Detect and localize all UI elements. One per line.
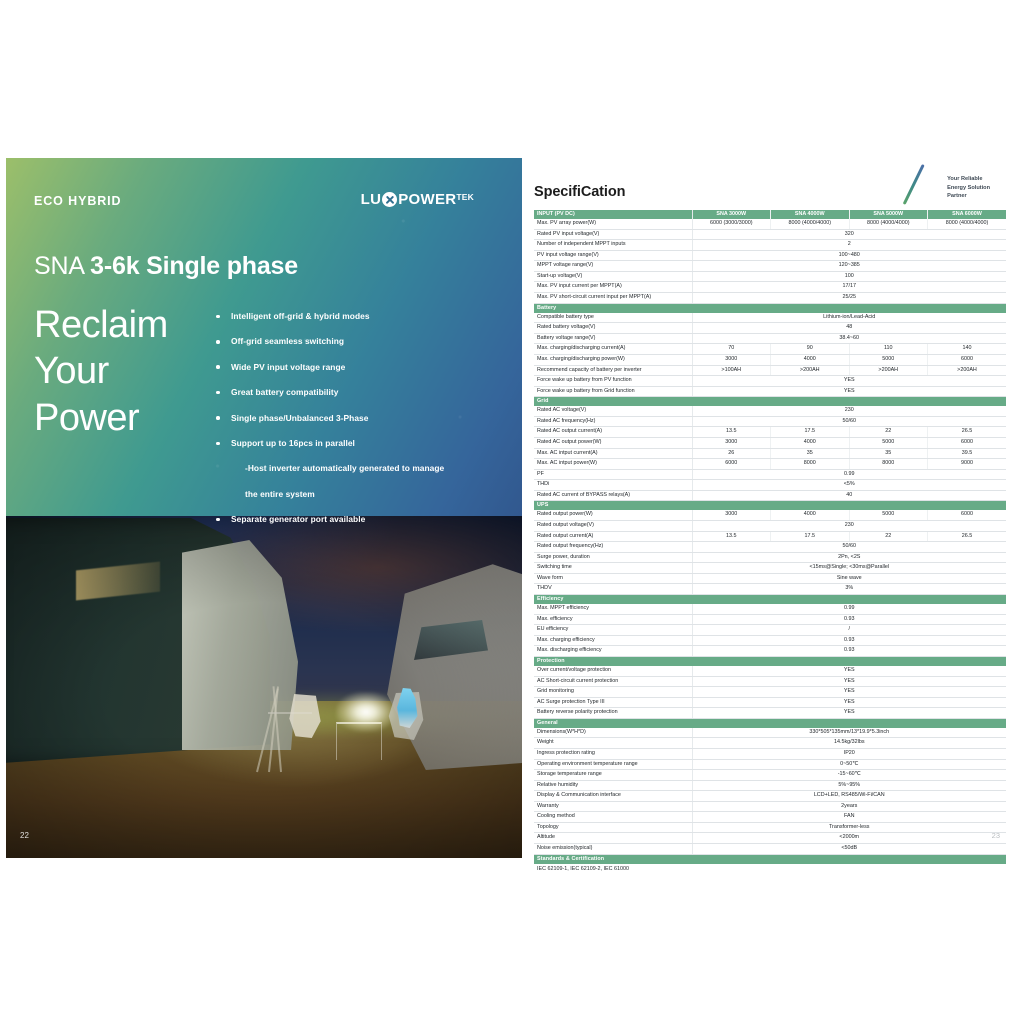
table-row: Grid monitoringYES — [534, 687, 1006, 698]
feature-list: Intelligent off-grid & hybrid modesOff-g… — [214, 312, 514, 541]
table-cell-value: YES — [692, 708, 1006, 719]
table-cell-value: 14.5kg/32lbs — [692, 738, 1006, 749]
table-cell-value: 26.5 — [928, 531, 1007, 542]
table-row-label: Rated AC output power(W) — [534, 438, 692, 449]
table-cell-value: 8000 (4000/4000) — [849, 219, 928, 229]
table-row-label: Wave form — [534, 573, 692, 584]
table-row-label: AC Short-circuit current protection — [534, 676, 692, 687]
table-row-label: EU efficiency — [534, 625, 692, 636]
table-cell-value: 17.5 — [771, 531, 850, 542]
slogan-line: Power — [34, 395, 168, 441]
table-column-header: SNA 5000W — [849, 210, 928, 219]
table-cell-value: 8000 (4000/4000) — [928, 219, 1007, 229]
table-cell-value: 2 — [692, 240, 1006, 251]
feature-subitem: the entire system — [214, 490, 514, 498]
table-cell-value: 22 — [849, 427, 928, 438]
table-cell-value: 2Pn, <2S — [692, 552, 1006, 563]
table-row-label: Weight — [534, 738, 692, 749]
table-cell-value: 26 — [692, 448, 771, 459]
table-row: AC Short-circuit current protectionYES — [534, 676, 1006, 687]
table-row: PV input voltage range(V)100~480 — [534, 250, 1006, 261]
logo-text-power: POWER — [398, 192, 456, 207]
table-row: Rated output voltage(V)230 — [534, 521, 1006, 532]
table-header-row: INPUT (PV DC)SNA 3000WSNA 4000WSNA 5000W… — [534, 210, 1006, 219]
table-row-label: Ingress protection rating — [534, 749, 692, 760]
table-row-label: Max. AC intput power(W) — [534, 459, 692, 470]
table-cell-value: 40 — [692, 490, 1006, 501]
page-title: SNA 3-6k Single phase — [34, 252, 298, 281]
table-row: Rated AC output current(A)13.517.52226.5 — [534, 427, 1006, 438]
table-row: Weight14.5kg/32lbs — [534, 738, 1006, 749]
table-cell-value: -15~60℃ — [692, 770, 1006, 781]
table-section-title: Grid — [534, 397, 1006, 407]
table-row-label: Battery reverse polarity protection — [534, 708, 692, 719]
table-section-title: Standards & Certification — [534, 854, 1006, 864]
table-cell-value: <2000m — [692, 833, 1006, 844]
table-cell-value: 35 — [849, 448, 928, 459]
table-row: Rated AC current of BYPASS relays(A)40 — [534, 490, 1006, 501]
table-row: Rated output frequency(Hz)50/60 — [534, 542, 1006, 553]
table-row: TopologyTransformer-less — [534, 822, 1006, 833]
table-row-label: Recommend capacity of battery per invert… — [534, 365, 692, 376]
table-cell-value: >200AH — [928, 365, 1007, 376]
table-row: THDV3% — [534, 584, 1006, 595]
table-row-label: Max. charging/discharging current(A) — [534, 344, 692, 355]
table-row: Storage temperature range-15~60℃ — [534, 770, 1006, 781]
luxpowertek-logo: LU POWER TEK — [361, 192, 474, 207]
table-row-label: Max. efficiency — [534, 614, 692, 625]
table-row: Max. discharging efficiency0.93 — [534, 646, 1006, 657]
table-row-label: Rated output voltage(V) — [534, 521, 692, 532]
feature-item: Single phase/Unbalanced 3-Phase — [214, 414, 514, 422]
table-row: Surge power, duration2Pn, <2S — [534, 552, 1006, 563]
table-cell-value: >100AH — [692, 365, 771, 376]
specification-title: SpecifiCation — [534, 184, 625, 200]
table-row: Display & Communication interfaceLCD+LED… — [534, 791, 1006, 802]
table-row: Ingress protection ratingIP20 — [534, 749, 1006, 760]
feature-item: Separate generator port available — [214, 515, 514, 523]
table-cell-value: 6000 (3000/3000) — [692, 219, 771, 229]
table-cell-value: 0.93 — [692, 646, 1006, 657]
feature-item: Intelligent off-grid & hybrid modes — [214, 312, 514, 320]
table-cell-value: 8000 (4000/4000) — [771, 219, 850, 229]
feature-subitem: -Host inverter automatically generated t… — [214, 464, 514, 472]
table-row: Rated battery voltage(V)48 — [534, 323, 1006, 334]
table-section-row: Protection — [534, 656, 1006, 666]
tagline-line-text: Partner — [947, 192, 990, 201]
brochure-spread: ECO HYBRID LU POWER TEK SNA 3-6k Single … — [0, 158, 1024, 858]
table-cell-value: 50/60 — [692, 542, 1006, 553]
table-section-title: Battery — [534, 303, 1006, 313]
table-section-title: Protection — [534, 656, 1006, 666]
table-row: Rated AC output power(W)3000400050006000 — [534, 438, 1006, 449]
table-row-label: Over current/voltage protection — [534, 666, 692, 676]
table-cell-value: 100 — [692, 271, 1006, 282]
table-row: Max. charging/discharging current(A)7090… — [534, 344, 1006, 355]
table-row: Battery reverse polarity protectionYES — [534, 708, 1006, 719]
table-cell-value: 17.5 — [771, 427, 850, 438]
table-row-label: Storage temperature range — [534, 770, 692, 781]
headline-prefix: SNA — [34, 252, 90, 280]
table-cell-value: 0.93 — [692, 635, 1006, 646]
table-row-label: Cooling method — [534, 812, 692, 823]
table-row: Relative humidity5%~95% — [534, 780, 1006, 791]
table-row: Battery voltage range(V)38.4~60 — [534, 333, 1006, 344]
table-row-label: AC Surge protection Type III — [534, 697, 692, 708]
slogan: ReclaimYourPower — [34, 302, 168, 441]
table-row: MPPT voltage range(V)120~385 — [534, 261, 1006, 272]
feature-item: Wide PV input voltage range — [214, 363, 514, 371]
table-cell-value: <50dB — [692, 843, 1006, 854]
table-row: Noise emission(typical)<50dB — [534, 843, 1006, 854]
table-row-label: Rated AC current of BYPASS relays(A) — [534, 490, 692, 501]
table-row: Switching time<15ms@Single; <30ms@Parall… — [534, 563, 1006, 574]
table-cell-value: 140 — [928, 344, 1007, 355]
table-cell-value: 230 — [692, 521, 1006, 532]
table-cell-value: 50/60 — [692, 416, 1006, 427]
table-row: THDi<5% — [534, 480, 1006, 491]
table-cell-value: 90 — [771, 344, 850, 355]
table-column-header: SNA 6000W — [928, 210, 1007, 219]
feature-item: Off-grid seamless switching — [214, 337, 514, 345]
table-cell-value: 3000 — [692, 510, 771, 520]
table-cell-value: 320 — [692, 229, 1006, 240]
table-row-label: PF — [534, 469, 692, 480]
table-row-label: Max. AC intput current(A) — [534, 448, 692, 459]
table-row: EU efficiency/ — [534, 625, 1006, 636]
table-row-label: Max. charging/discharging power(W) — [534, 354, 692, 365]
table-row-label: MPPT voltage range(V) — [534, 261, 692, 272]
table-cell-value: 5000 — [849, 438, 928, 449]
table-cell-value: Sine wave — [692, 573, 1006, 584]
table-row-label: Rated AC output current(A) — [534, 427, 692, 438]
table-row-label: PV input voltage range(V) — [534, 250, 692, 261]
tagline-line-text: Your Reliable — [947, 175, 990, 184]
table-row-label: Operating environment temperature range — [534, 759, 692, 770]
tagline-line-text: Energy Solution — [947, 184, 990, 193]
table-row: Compatible battery typeLithium-ion/Lead-… — [534, 313, 1006, 323]
table-row-label: Display & Communication interface — [534, 791, 692, 802]
table-row: Max. charging efficiency0.93 — [534, 635, 1006, 646]
table-row: Wave formSine wave — [534, 573, 1006, 584]
table-row: Dimensions(W*H*D)330*505*135mm/13*19.9*5… — [534, 728, 1006, 738]
table-section-title: Efficiency — [534, 594, 1006, 604]
table-row: Max. PV array power(W)6000 (3000/3000)80… — [534, 219, 1006, 229]
table-row: Rated PV input voltage(V)320 — [534, 229, 1006, 240]
table-row-label: THDV — [534, 584, 692, 595]
right-page: SpecifiCation Your ReliableEnergy Soluti… — [522, 158, 1018, 858]
table-row: PF0.99 — [534, 469, 1006, 480]
table-row: Rated output current(A)13.517.52226.5 — [534, 531, 1006, 542]
photo-vignette — [6, 516, 522, 858]
table-section-row: Standards & Certification — [534, 854, 1006, 864]
table-row-label: Noise emission(typical) — [534, 843, 692, 854]
table-cell-value: YES — [692, 697, 1006, 708]
table-cell-value: 330*505*135mm/13*19.9*5.3inch — [692, 728, 1006, 738]
table-cell-value: FAN — [692, 812, 1006, 823]
slogan-line: Your — [34, 348, 168, 394]
table-row-label: Max. MPPT efficiency — [534, 604, 692, 614]
table-row-label: Max. PV short-circuit current input per … — [534, 293, 692, 304]
table-row-label: Max. charging efficiency — [534, 635, 692, 646]
table-row-label: Rated output current(A) — [534, 531, 692, 542]
table-cell-value: 9000 — [928, 459, 1007, 470]
table-cell-value: 5%~95% — [692, 780, 1006, 791]
table-row-label: Switching time — [534, 563, 692, 574]
table-cell-value: 230 — [692, 406, 1006, 416]
table-note-text: IEC 62109-1, IEC 62109-2, IEC 61000 — [534, 864, 1006, 874]
brand-tagline: Your ReliableEnergy SolutionPartner — [920, 164, 990, 204]
table-row: Rated output power(W)3000400050006000 — [534, 510, 1006, 520]
table-row: Max. AC intput power(W)6000800080009000 — [534, 459, 1006, 470]
table-row: Over current/voltage protectionYES — [534, 666, 1006, 676]
feature-item: Great battery compatibility — [214, 388, 514, 396]
table-row-label: Compatible battery type — [534, 313, 692, 323]
table-cell-value: 13.5 — [692, 531, 771, 542]
table-cell-value: 0.99 — [692, 604, 1006, 614]
table-cell-value: 120~385 — [692, 261, 1006, 272]
table-row-label: Start-up voltage(V) — [534, 271, 692, 282]
table-row-label: Rated output power(W) — [534, 510, 692, 520]
table-row-label: Altitude — [534, 833, 692, 844]
table-section-title: General — [534, 718, 1006, 728]
table-cell-value: YES — [692, 676, 1006, 687]
table-cell-value: Transformer-less — [692, 822, 1006, 833]
table-row-label: Rated AC frequency(Hz) — [534, 416, 692, 427]
table-cell-value: <15ms@Single; <30ms@Parallel — [692, 563, 1006, 574]
table-cell-value: 2years — [692, 801, 1006, 812]
table-row-label: Max. PV input current per MPPT(A) — [534, 282, 692, 293]
table-cell-value: 25/25 — [692, 293, 1006, 304]
table-column-header: SNA 3000W — [692, 210, 771, 219]
slogan-line: Reclaim — [34, 302, 168, 348]
table-column-header: SNA 4000W — [771, 210, 850, 219]
specification-table: INPUT (PV DC)SNA 3000WSNA 4000WSNA 5000W… — [534, 210, 1006, 874]
table-row: Cooling methodFAN — [534, 812, 1006, 823]
table-row-label: Force wake up battery from PV function — [534, 376, 692, 387]
table-row-label: Battery voltage range(V) — [534, 333, 692, 344]
table-cell-value: 48 — [692, 323, 1006, 334]
table-cell-value: 6000 — [928, 438, 1007, 449]
table-row: Altitude<2000m — [534, 833, 1006, 844]
table-cell-value: IP20 — [692, 749, 1006, 760]
table-section-row: Grid — [534, 397, 1006, 407]
table-cell-value: 38.4~60 — [692, 333, 1006, 344]
table-row-label: Surge power, duration — [534, 552, 692, 563]
table-cell-value: 5000 — [849, 510, 928, 520]
feature-item: Support up to 16pcs in parallel — [214, 439, 514, 447]
table-row: Max. MPPT efficiency0.99 — [534, 604, 1006, 614]
table-row-label: THDi — [534, 480, 692, 491]
table-cell-value: 17/17 — [692, 282, 1006, 293]
table-cell-value: 3000 — [692, 438, 771, 449]
x-in-circle-icon — [382, 192, 397, 207]
table-row: Max. PV short-circuit current input per … — [534, 293, 1006, 304]
table-section-row: Battery — [534, 303, 1006, 313]
table-note-row: IEC 62109-1, IEC 62109-2, IEC 61000 — [534, 864, 1006, 874]
table-cell-value: 70 — [692, 344, 771, 355]
table-row-label: Force wake up battery from Grid function — [534, 386, 692, 397]
table-row: Warranty2years — [534, 801, 1006, 812]
table-cell-value: 4000 — [771, 438, 850, 449]
table-row-label: Max. discharging efficiency — [534, 646, 692, 657]
table-row: Force wake up battery from PV functionYE… — [534, 376, 1006, 387]
table-row: Max. PV input current per MPPT(A)17/17 — [534, 282, 1006, 293]
table-row: Rated AC voltage(V)230 — [534, 406, 1006, 416]
table-section-row: Efficiency — [534, 594, 1006, 604]
table-cell-value: 5000 — [849, 354, 928, 365]
table-cell-value: >200AH — [849, 365, 928, 376]
table-row: AC Surge protection Type IIIYES — [534, 697, 1006, 708]
table-row: Operating environment temperature range0… — [534, 759, 1006, 770]
table-cell-value: / — [692, 625, 1006, 636]
table-cell-value: 0.99 — [692, 469, 1006, 480]
table-row: Rated AC frequency(Hz)50/60 — [534, 416, 1006, 427]
table-cell-value: 22 — [849, 531, 928, 542]
table-row: Start-up voltage(V)100 — [534, 271, 1006, 282]
table-row-label: Dimensions(W*H*D) — [534, 728, 692, 738]
table-cell-value: YES — [692, 687, 1006, 698]
logo-text-tek: TEK — [456, 193, 474, 202]
table-cell-value: 3% — [692, 584, 1006, 595]
table-cell-value: 0.93 — [692, 614, 1006, 625]
table-section-row: UPS — [534, 501, 1006, 511]
table-row: Max. charging/discharging power(W)300040… — [534, 354, 1006, 365]
logo-text-lu: LU — [361, 192, 382, 207]
table-cell-value: 26.5 — [928, 427, 1007, 438]
table-cell-value: 0~50℃ — [692, 759, 1006, 770]
table-cell-value: 39.5 — [928, 448, 1007, 459]
page-number-left: 22 — [20, 831, 29, 840]
eco-hybrid-kicker: ECO HYBRID — [34, 194, 121, 208]
table-section-title: UPS — [534, 501, 1006, 511]
table-row-label: Rated battery voltage(V) — [534, 323, 692, 334]
table-cell-value: YES — [692, 386, 1006, 397]
page-number-right: 23 — [992, 831, 1000, 840]
table-cell-value: YES — [692, 376, 1006, 387]
table-row-label: Topology — [534, 822, 692, 833]
table-cell-value: 6000 — [928, 354, 1007, 365]
left-page: ECO HYBRID LU POWER TEK SNA 3-6k Single … — [6, 158, 522, 858]
table-row: Max. efficiency0.93 — [534, 614, 1006, 625]
table-cell-value: 8000 — [849, 459, 928, 470]
night-camping-photo — [6, 516, 522, 858]
table-row-label: Rated output frequency(Hz) — [534, 542, 692, 553]
table-cell-value: 35 — [771, 448, 850, 459]
table-row: Recommend capacity of battery per invert… — [534, 365, 1006, 376]
table-cell-value: 8000 — [771, 459, 850, 470]
table-section-row: General — [534, 718, 1006, 728]
table-cell-value: 6000 — [692, 459, 771, 470]
tagline-text: Your ReliableEnergy SolutionPartner — [947, 164, 990, 201]
table-row-label: Grid monitoring — [534, 687, 692, 698]
table-cell-value: 110 — [849, 344, 928, 355]
table-cell-value: 100~480 — [692, 250, 1006, 261]
table-cell-value: >200AH — [771, 365, 850, 376]
table-cell-value: LCD+LED, RS485/Wi-Fi/CAN — [692, 791, 1006, 802]
table-cell-value: 4000 — [771, 354, 850, 365]
table-row-label: Warranty — [534, 801, 692, 812]
table-cell-value: YES — [692, 666, 1006, 676]
table-cell-value: <5% — [692, 480, 1006, 491]
table-row: Force wake up battery from Grid function… — [534, 386, 1006, 397]
table-row: Max. AC intput current(A)26353539.5 — [534, 448, 1006, 459]
table-cell-value: 4000 — [771, 510, 850, 520]
table-row-label: Number of independent MPPT inputs — [534, 240, 692, 251]
table-row-label: Max. PV array power(W) — [534, 219, 692, 229]
table-row: Number of independent MPPT inputs2 — [534, 240, 1006, 251]
table-row-label: Rated PV input voltage(V) — [534, 229, 692, 240]
table-cell-value: 6000 — [928, 510, 1007, 520]
table-cell-value: 3000 — [692, 354, 771, 365]
table-row-label: Rated AC voltage(V) — [534, 406, 692, 416]
table-section-title: INPUT (PV DC) — [534, 210, 692, 219]
headline-model: 3-6k Single phase — [90, 252, 298, 280]
table-cell-value: Lithium-ion/Lead-Acid — [692, 313, 1006, 323]
diagonal-stroke-icon — [920, 164, 942, 204]
table-cell-value: 13.5 — [692, 427, 771, 438]
table-row-label: Relative humidity — [534, 780, 692, 791]
